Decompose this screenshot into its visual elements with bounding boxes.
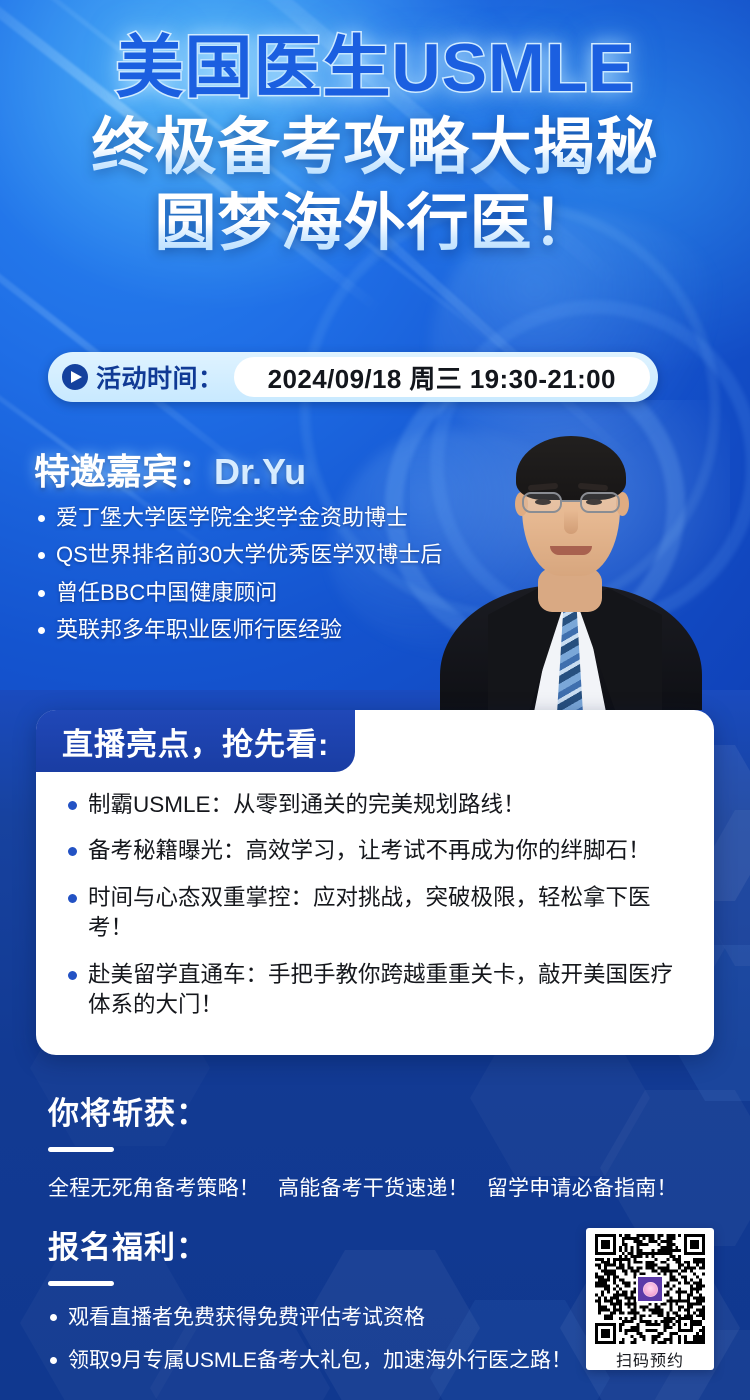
highlights-card: 直播亮点，抢先看: 制霸USMLE：从零到通关的完美规划路线！ 备考秘籍曝光：高… — [36, 710, 714, 1055]
list-item: 爱丁堡大学医学院全奖学金资助博士 — [34, 504, 434, 532]
promo-poster: 美国医生USMLE 终极备考攻略大揭秘 圆梦海外行医！ 活动时间： 2024/0… — [0, 0, 750, 1400]
bonus-list: 观看直播者免费获得免费评估考试资格 领取9月专属USMLE备考大礼包，加速海外行… — [48, 1304, 568, 1375]
list-item: 制霸USMLE：从零到通关的完美规划路线！ — [62, 790, 688, 820]
guest-credential-list: 爱丁堡大学医学院全奖学金资助博士 QS世界排名前30大学优秀医学双博士后 曾任B… — [34, 504, 434, 644]
event-time-label: 活动时间： — [96, 359, 224, 395]
gain-item: 全程无死角备考策略！ — [48, 1177, 260, 1200]
gain-item: 留学申请必备指南！ — [487, 1177, 678, 1200]
list-item: 时间与心态双重掌控：应对挑战，突破极限，轻松拿下医考！ — [62, 883, 688, 944]
poster-title: 美国医生USMLE 终极备考攻略大揭秘 圆梦海外行医！ — [0, 32, 750, 258]
event-datetime-value: 2024/09/18 周三 19:30-21:00 — [268, 359, 616, 396]
gains-items: 全程无死角备考策略！高能备考干货速递！留学申请必备指南！ — [48, 1172, 708, 1202]
guest-section: 特邀嘉宾：Dr.Yu 爱丁堡大学医学院全奖学金资助博士 QS世界排名前30大学优… — [34, 452, 434, 654]
speaker-portrait-photo — [410, 400, 730, 710]
list-item: 赴美留学直通车：手把手教你跨越重重关卡，敲开美国医疗体系的大门！ — [62, 960, 688, 1021]
list-item: 备考秘籍曝光：高效学习，让考试不再成为你的绊脚石！ — [62, 836, 688, 866]
list-item: 观看直播者免费获得免费评估考试资格 — [48, 1304, 568, 1331]
qr-caption: 扫码预约 — [616, 1347, 684, 1371]
list-item: QS世界排名前30大学优秀医学双博士后 — [34, 541, 434, 569]
gains-section: 你将斩获： 全程无死角备考策略！高能备考干货速递！留学申请必备指南！ — [48, 1088, 708, 1202]
play-icon — [62, 364, 88, 390]
title-line-2: 终极备考攻略大揭秘 — [0, 113, 750, 182]
highlights-list: 制霸USMLE：从零到通关的完美规划路线！ 备考秘籍曝光：高效学习，让考试不再成… — [36, 780, 714, 1036]
gains-heading: 你将斩获： — [48, 1088, 708, 1133]
gain-item: 高能备考干货速递！ — [278, 1177, 469, 1200]
guest-heading-prefix: 特邀嘉宾： — [34, 451, 214, 492]
usmle-flower-logo-icon — [636, 1275, 664, 1303]
bonus-section: 报名福利： 观看直播者免费获得免费评估考试资格 领取9月专属USMLE备考大礼包… — [48, 1222, 568, 1391]
section-divider — [48, 1147, 114, 1152]
event-time-banner: 活动时间： 2024/09/18 周三 19:30-21:00 — [48, 352, 658, 402]
qr-code-image[interactable] — [595, 1234, 705, 1344]
guest-name: Dr.Yu — [214, 451, 306, 492]
highlights-tab: 直播亮点，抢先看: — [36, 710, 355, 772]
section-divider — [48, 1281, 114, 1286]
list-item: 曾任BBC中国健康顾问 — [34, 579, 434, 607]
event-datetime-box: 2024/09/18 周三 19:30-21:00 — [234, 357, 650, 397]
bonus-heading: 报名福利： — [48, 1222, 568, 1267]
title-line-1: 美国医生USMLE — [0, 32, 750, 105]
qr-code-card[interactable]: 扫码预约 — [586, 1228, 714, 1370]
list-item: 英联邦多年职业医师行医经验 — [34, 616, 434, 644]
highlights-tab-label: 直播亮点，抢先看: — [62, 719, 329, 764]
title-line-3: 圆梦海外行医！ — [0, 189, 750, 258]
guest-heading: 特邀嘉宾：Dr.Yu — [34, 452, 434, 492]
list-item: 领取9月专属USMLE备考大礼包，加速海外行医之路！ — [48, 1347, 568, 1374]
